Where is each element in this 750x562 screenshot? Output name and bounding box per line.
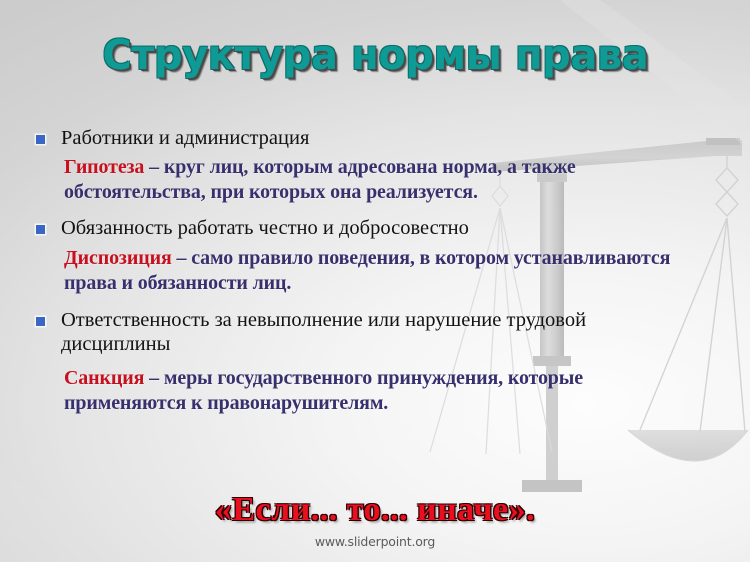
watermark-text: www.sliderpoint.org xyxy=(0,534,750,549)
presentation-slide: Структура нормы права Работники и админи… xyxy=(0,0,750,562)
term-name: Диспозиция xyxy=(64,247,172,269)
term-dash: – xyxy=(144,156,164,178)
definition-block-hypothesis: Работники и администрация Гипотеза – кру… xyxy=(0,126,750,205)
slide-content: Работники и администрация Гипотеза – кру… xyxy=(0,126,750,418)
square-bullet-icon xyxy=(36,135,45,144)
list-item-label: Обязанность работать честно и добросовес… xyxy=(61,216,750,240)
term-name: Санкция xyxy=(64,367,144,389)
page-title: Структура нормы права xyxy=(102,34,648,77)
definition-block-sanction: Ответственность за невыполнение или нару… xyxy=(0,308,750,416)
list-item: Обязанность работать честно и добросовес… xyxy=(0,216,750,240)
term-name: Гипотеза xyxy=(64,156,144,178)
slogan-text: «Если... то... иначе». xyxy=(215,492,535,528)
square-bullet-icon xyxy=(36,317,45,326)
definition-line: Санкция – меры государственного принужде… xyxy=(0,366,750,416)
list-item: Работники и администрация xyxy=(0,126,750,150)
slide-title-container: Структура нормы права xyxy=(0,34,750,77)
term-dash: – xyxy=(144,367,164,389)
definition-line: Диспозиция – само правило поведения, в к… xyxy=(0,246,750,296)
list-item-label: Работники и администрация xyxy=(61,126,750,150)
definition-block-disposition: Обязанность работать честно и добросовес… xyxy=(0,216,750,296)
slogan-container: «Если... то... иначе». xyxy=(0,492,750,528)
list-item-label: Ответственность за невыполнение или нару… xyxy=(61,308,750,356)
term-dash: – xyxy=(172,247,192,269)
list-item: Ответственность за невыполнение или нару… xyxy=(0,308,750,356)
definition-line: Гипотеза – круг лиц, которым адресована … xyxy=(0,155,750,205)
square-bullet-icon xyxy=(36,225,45,234)
